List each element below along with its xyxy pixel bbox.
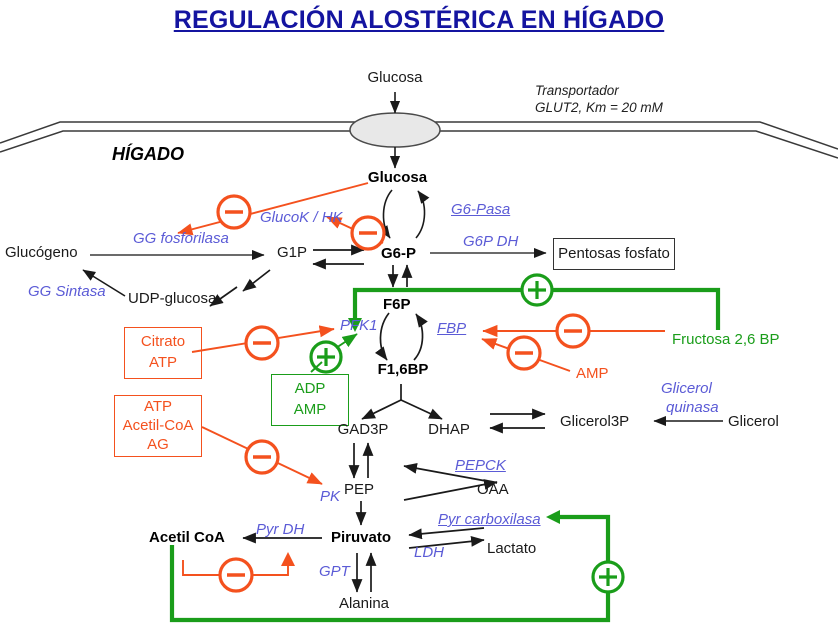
metabolite-dhap: DHAP xyxy=(413,422,485,437)
pathway-arrows xyxy=(0,0,838,632)
regulator-amp-pfk1: AMP xyxy=(271,402,349,417)
enzyme-pk: PK xyxy=(320,489,340,504)
enzyme-glucok-hk: GlucoK / HK xyxy=(260,210,343,225)
regulator-atp-pk: ATP xyxy=(114,399,202,414)
regulator-fructosa-26bp: Fructosa 2,6 BP xyxy=(672,332,780,347)
transporter-note-line1: Transportador xyxy=(535,82,619,100)
metabolite-glicerol3p: Glicerol3P xyxy=(560,414,629,429)
metabolite-glucosa-extracellular: Glucosa xyxy=(340,70,450,85)
transporter-note-line2: GLUT2, Km = 20 mM xyxy=(535,99,663,117)
regulator-amp-fbp: AMP xyxy=(576,366,609,381)
enzyme-glicerol-quinasa-line2: quinasa xyxy=(666,400,719,415)
enzyme-g6p-dh: G6P DH xyxy=(463,234,518,249)
metabolite-f6p: F6P xyxy=(383,297,411,312)
regulator-adp: ADP xyxy=(271,381,349,396)
enzyme-gpt: GPT xyxy=(319,564,350,579)
metabolite-glucosa-intracellular: Glucosa xyxy=(350,170,445,185)
metabolite-oaa: OAA xyxy=(477,482,509,497)
enzyme-gg-sintasa: GG Sintasa xyxy=(28,284,106,299)
regulator-acetil-coa-pk: Acetil-CoA xyxy=(114,418,202,433)
enzyme-pepck: PEPCK xyxy=(455,458,506,473)
metabolite-glucogeno: Glucógeno xyxy=(5,245,78,260)
page-title: REGULACIÓN ALOSTÉRICA EN HÍGADO xyxy=(0,8,838,33)
metabolite-gad3p: GAD3P xyxy=(325,422,401,437)
metabolite-g6p: G6-P xyxy=(381,246,416,261)
enzyme-gg-fosforilasa: GG fosforilasa xyxy=(133,231,229,246)
metabolite-pep: PEP xyxy=(344,482,374,497)
enzyme-pfk1: PFK1 xyxy=(340,318,378,333)
metabolite-glicerol: Glicerol xyxy=(728,414,779,429)
metabolite-acetil-coa: Acetil CoA xyxy=(149,530,225,545)
enzyme-glicerol-quinasa-line1: Glicerol xyxy=(661,381,712,396)
metabolite-piruvato: Piruvato xyxy=(331,530,391,545)
enzyme-pyr-dh: Pyr DH xyxy=(256,522,304,537)
metabolite-udp-glucosa: UDP-glucosa xyxy=(128,291,216,306)
organ-label-higado: HÍGADO xyxy=(112,145,184,163)
enzyme-g6-pasa: G6-Pasa xyxy=(451,202,510,217)
enzyme-ldh: LDH xyxy=(414,545,444,560)
metabolite-alanina: Alanina xyxy=(325,596,403,611)
diagram-canvas: REGULACIÓN ALOSTÉRICA EN HÍGADO Glucosa … xyxy=(0,0,838,632)
enzyme-fbp: FBP xyxy=(437,321,466,336)
metabolite-lactato: Lactato xyxy=(487,541,536,556)
enzyme-pyr-carboxilasa: Pyr carboxilasa xyxy=(438,512,541,527)
metabolite-g1p: G1P xyxy=(277,245,307,260)
regulator-ag-pk: AG xyxy=(114,437,202,452)
metabolite-f16bp: F1,6BP xyxy=(358,362,448,377)
regulator-citrato: Citrato xyxy=(124,334,202,349)
metabolite-pentosas-fosfato: Pentosas fosfato xyxy=(553,246,675,261)
regulator-atp-pfk1: ATP xyxy=(124,355,202,370)
